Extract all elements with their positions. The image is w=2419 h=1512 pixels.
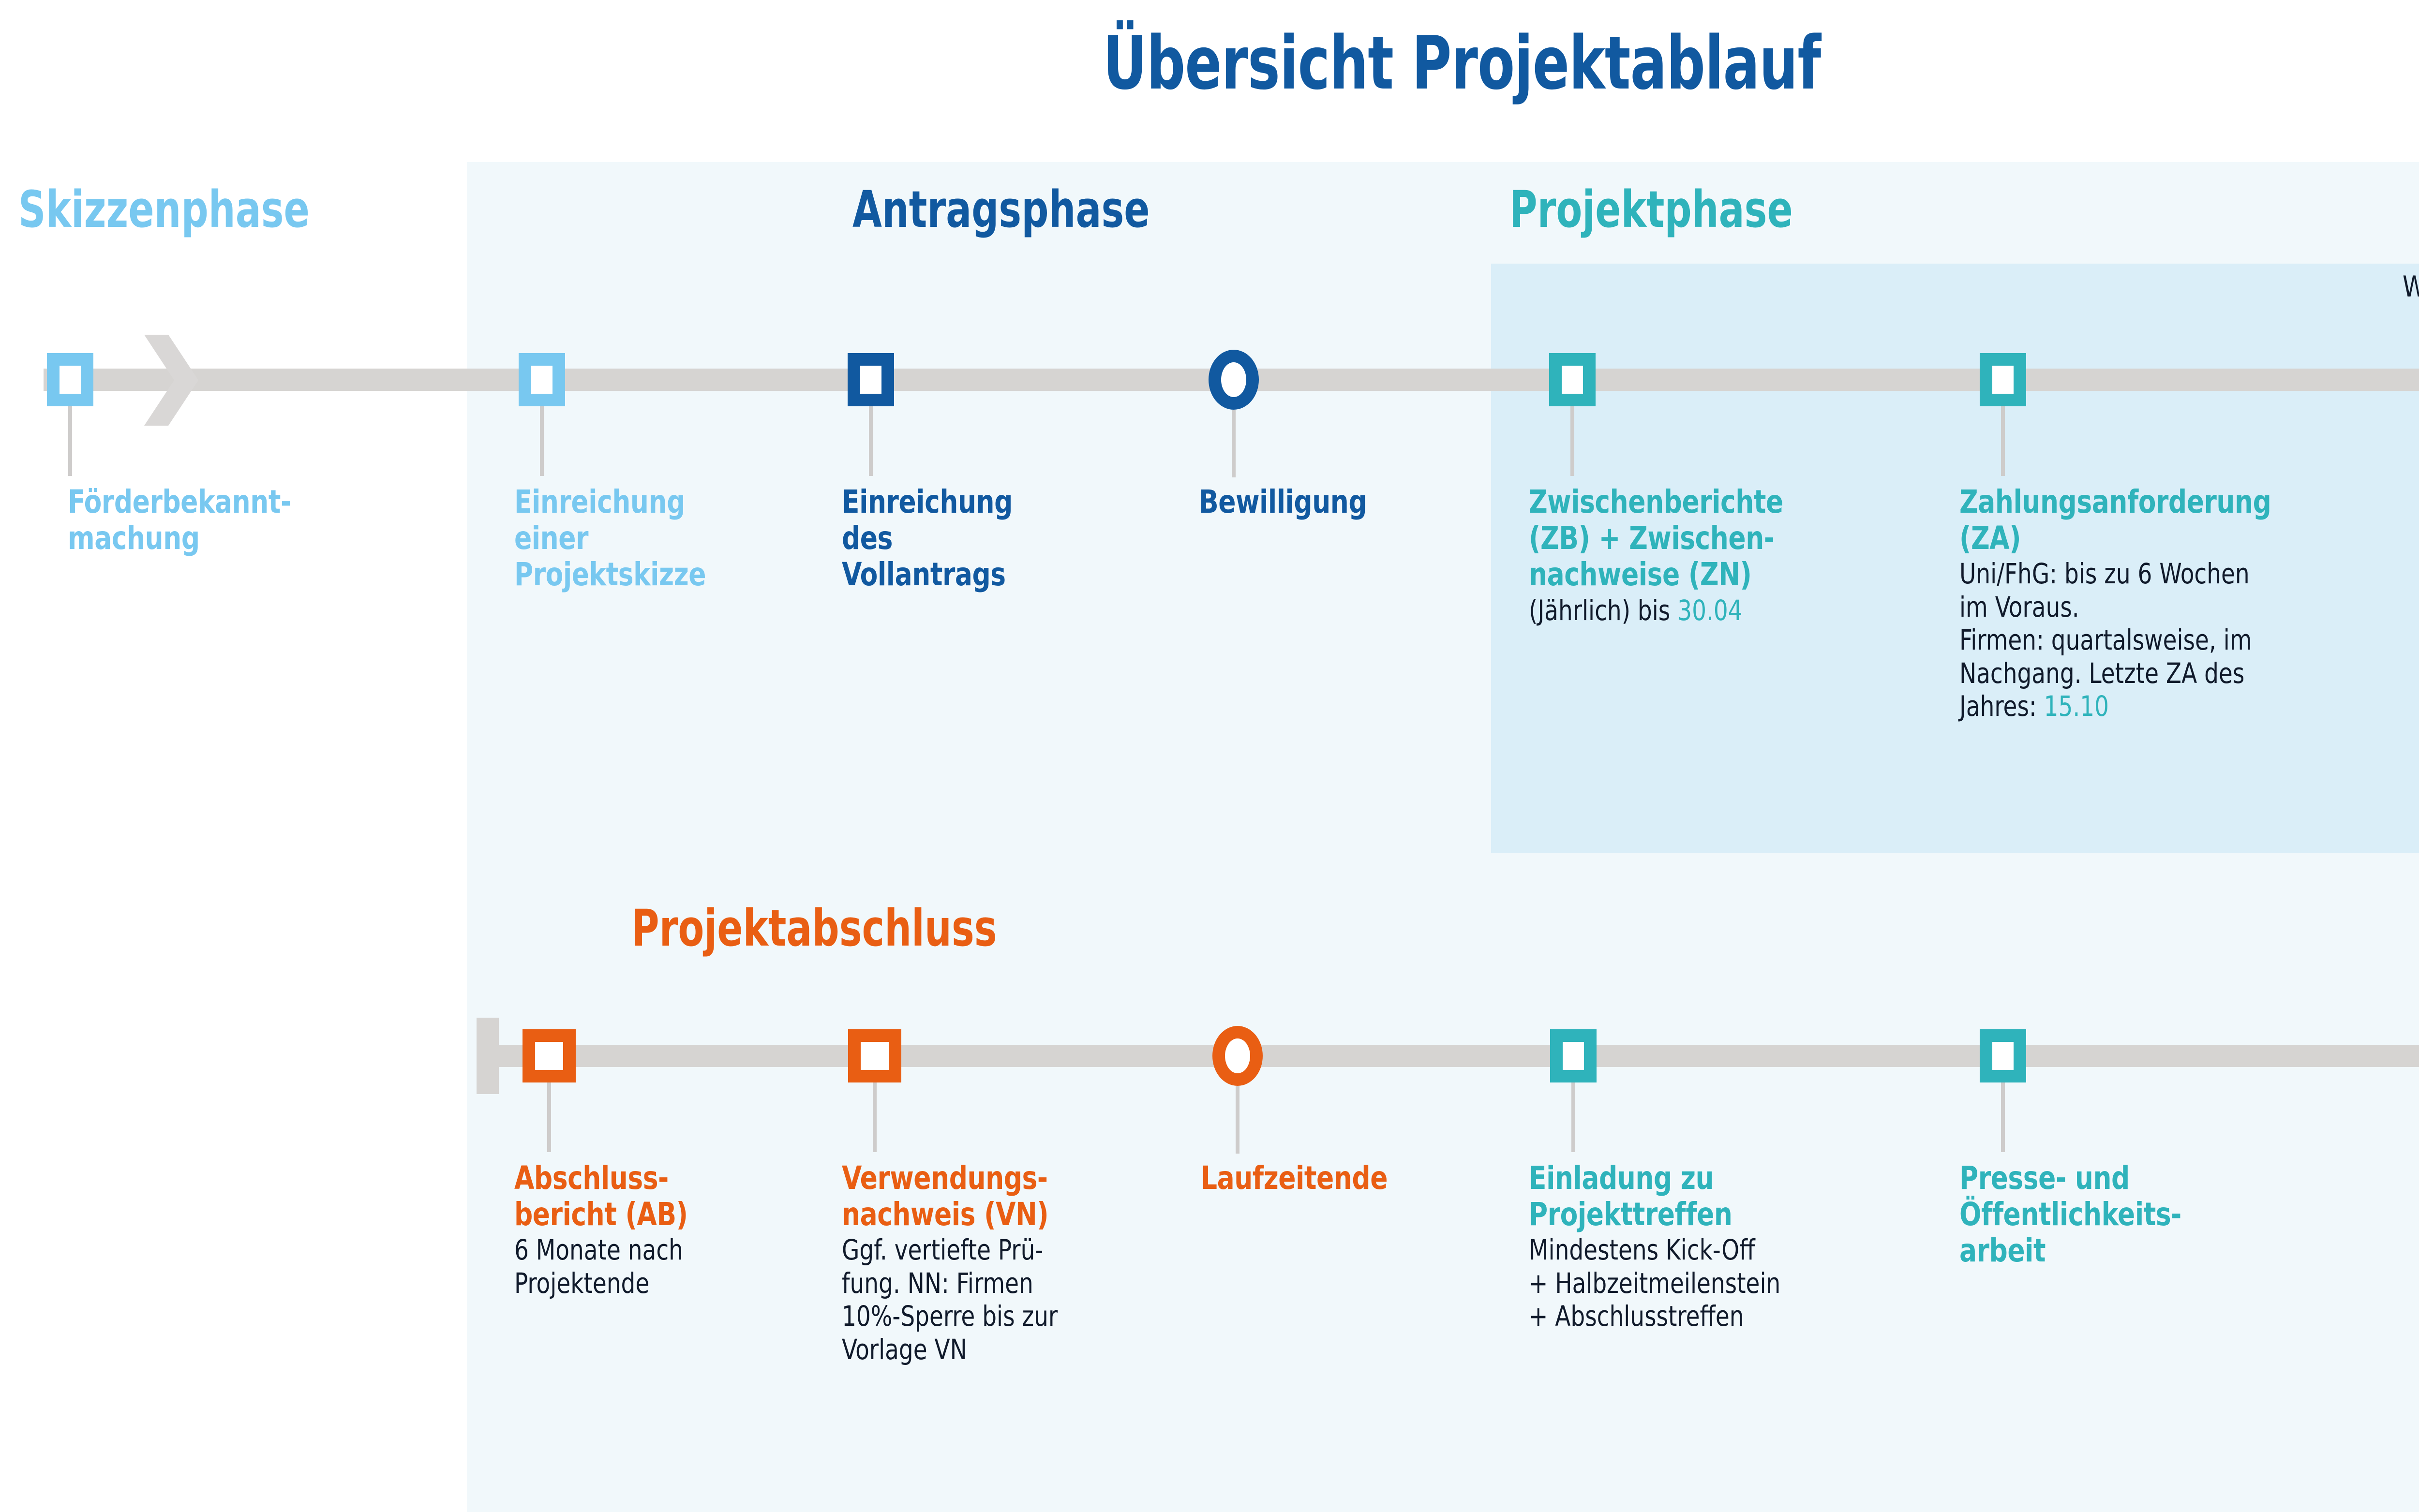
- milestone-title-line: machung: [68, 519, 200, 557]
- milestone-body-line: Mindestens Kick-Off: [1529, 1233, 1755, 1266]
- milestone-text-verwendungsnachweis: Verwendungs- nachweis (VN) Ggf. vertieft…: [842, 1160, 1171, 1366]
- milestone-body-line: Nachgang. Letzte ZA des: [1959, 657, 2244, 690]
- milestone-title-line: Bewilligung: [1199, 483, 1367, 520]
- milestone-title-line: Projektskizze: [514, 556, 706, 593]
- milestone-stem: [2001, 1082, 2005, 1152]
- milestone-body-line: + Abschlusstreffen: [1529, 1300, 1744, 1333]
- milestone-title-line: (ZB) + Zwischen-: [1529, 519, 1775, 557]
- milestone-stem: [1232, 410, 1236, 477]
- milestone-body-line: fung. NN: Firmen: [842, 1267, 1033, 1300]
- milestone-title-line: nachweis (VN): [842, 1196, 1048, 1233]
- milestone-text-projektskizze: Einreichung einer Projektskizze: [514, 484, 834, 593]
- phase-header-projektabschluss: Projektabschluss: [631, 899, 997, 958]
- milestone-marker-foerderbekanntmachung[interactable]: [47, 353, 93, 406]
- milestone-text-abschlussbericht: Abschluss- bericht (AB) 6 Monate nach Pr…: [514, 1160, 834, 1300]
- milestone-stem: [540, 406, 544, 476]
- milestone-title-line: bericht (AB): [514, 1196, 688, 1233]
- milestone-title-line: einer: [514, 519, 588, 557]
- milestone-stem: [869, 406, 873, 476]
- milestone-body-line: Uni/FhG: bis zu 6 Wochen: [1959, 557, 2250, 590]
- milestone-body-highlight: 15.10: [2044, 690, 2109, 723]
- milestone-text-foerderbekanntmachung: Förderbekannt- machung: [68, 484, 406, 556]
- milestone-body-line: im Voraus.: [1959, 591, 2079, 623]
- timeline-rail-bottom: [477, 1045, 2419, 1067]
- milestone-title-line: Öffentlichkeits-: [1959, 1196, 2181, 1233]
- page-title: Übersicht Projektablauf: [263, 20, 2419, 106]
- recurring-duties-label: Wiederkehrende Pflichten: [2403, 270, 2419, 304]
- milestone-marker-projektskizze[interactable]: [519, 353, 565, 406]
- phase-header-projektphase: Projektphase: [1509, 180, 1793, 239]
- milestone-title-line: nachweise (ZN): [1529, 556, 1751, 593]
- milestone-text-zahlungsanforderung: Zahlungsanforderung (ZA) Uni/FhG: bis zu…: [1959, 484, 2419, 723]
- phase-header-skizzenphase: Skizzenphase: [18, 180, 310, 239]
- milestone-title-line: (ZA): [1959, 519, 2021, 557]
- milestone-text-vollantrag: Einreichung des Vollantrags: [842, 484, 1161, 593]
- milestone-stem: [1236, 1086, 1239, 1154]
- milestone-stem: [547, 1082, 551, 1152]
- milestone-marker-projekttreffen[interactable]: [1550, 1029, 1597, 1082]
- milestone-title-line: Projekttreffen: [1529, 1196, 1732, 1233]
- milestone-stem: [873, 1082, 877, 1152]
- milestone-body-line: Ggf. vertiefte Prü-: [842, 1233, 1043, 1266]
- flow-arrow-icon: [141, 332, 199, 429]
- milestone-marker-laufzeitende[interactable]: [1212, 1026, 1263, 1086]
- milestone-title-line: Einreichung: [514, 483, 685, 520]
- milestone-title-line: Laufzeitende: [1201, 1159, 1388, 1197]
- milestone-body-line: 10%-Sperre bis zur: [842, 1300, 1058, 1333]
- milestone-text-zwischenberichte: Zwischenberichte (ZB) + Zwischen- nachwe…: [1529, 484, 1964, 627]
- milestone-body-highlight: 30.04: [1677, 594, 1742, 627]
- milestone-marker-bewilligung[interactable]: [1209, 350, 1259, 410]
- milestone-body-line: Projektende: [514, 1267, 649, 1300]
- milestone-body-line: (Jährlich) bis: [1529, 594, 1677, 627]
- milestone-title-line: Einladung zu: [1529, 1159, 1714, 1197]
- milestone-text-presse-oeffentlichkeitsarbeit: Presse- und Öffentlichkeits- arbeit: [1959, 1160, 2361, 1269]
- milestone-stem: [68, 406, 72, 476]
- milestone-title-line: des: [842, 519, 893, 557]
- milestone-title-line: Förderbekannt-: [68, 483, 291, 520]
- milestone-title-line: Zahlungsanforderung: [1959, 483, 2271, 520]
- milestone-marker-zahlungsanforderung[interactable]: [1980, 353, 2026, 406]
- milestone-body-line: + Halbzeitmeilenstein: [1529, 1267, 1780, 1300]
- milestone-title-line: Einreichung: [842, 483, 1013, 520]
- milestone-body-line: 6 Monate nach: [514, 1233, 683, 1266]
- milestone-title-line: Verwendungs-: [842, 1159, 1048, 1197]
- infographic-canvas: Übersicht Projektablauf Skizzenphase Ant…: [0, 0, 2419, 1512]
- milestone-title-line: Zwischenberichte: [1529, 483, 1783, 520]
- milestone-text-laufzeitende: Laufzeitende: [1201, 1160, 1520, 1196]
- milestone-stem: [1570, 406, 1574, 476]
- milestone-body-line: Jahres:: [1959, 690, 2044, 723]
- milestone-marker-verwendungsnachweis[interactable]: [848, 1029, 901, 1082]
- milestone-title-line: Abschluss-: [514, 1159, 669, 1197]
- phase-header-antragsphase: Antragsphase: [852, 180, 1150, 239]
- milestone-body-line: Vorlage VN: [842, 1333, 967, 1366]
- milestone-marker-vollantrag[interactable]: [848, 353, 894, 406]
- milestone-text-projekttreffen: Einladung zu Projekttreffen Mindestens K…: [1529, 1160, 1930, 1333]
- milestone-marker-zwischenberichte[interactable]: [1549, 353, 1596, 406]
- milestone-marker-presse-oeffentlichkeitsarbeit[interactable]: [1980, 1029, 2026, 1082]
- milestone-marker-abschlussbericht[interactable]: [523, 1029, 576, 1082]
- milestone-stem: [2001, 406, 2005, 476]
- milestone-title-line: Vollantrags: [842, 556, 1006, 593]
- timeline-start-cap: [477, 1018, 499, 1094]
- milestone-text-bewilligung: Bewilligung: [1199, 484, 1518, 520]
- milestone-stem: [1571, 1082, 1575, 1152]
- milestone-body-line: Firmen: quartalsweise, im: [1959, 623, 2252, 656]
- milestone-title-line: arbeit: [1959, 1232, 2046, 1269]
- milestone-title-line: Presse- und: [1959, 1159, 2130, 1197]
